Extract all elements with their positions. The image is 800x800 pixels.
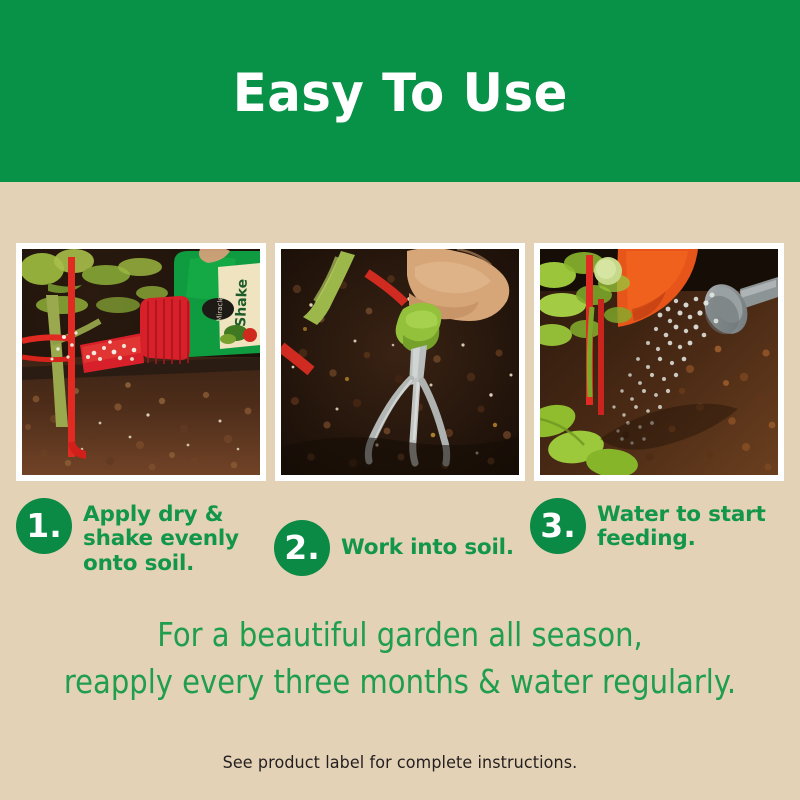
photo-water-to-start	[540, 249, 778, 475]
page-title: Easy To Use	[232, 67, 567, 120]
step-number-badge-2: 2.	[274, 520, 330, 576]
tagline-line-1: For a beautiful garden all season,	[48, 612, 752, 659]
photo-frame-1: Miracle Shake	[16, 243, 266, 481]
tagline: For a beautiful garden all season, reapp…	[48, 612, 752, 706]
step-item-1: 1. Apply dry & shake evenly onto soil.	[16, 498, 274, 598]
footer-disclaimer: See product label for complete instructi…	[24, 753, 776, 773]
svg-text:Shake: Shake	[233, 279, 251, 327]
step-label-3: Water to start feeding.	[597, 503, 766, 552]
photo-strip: Miracle Shake	[16, 243, 784, 481]
easy-to-use-infographic: Easy To Use	[0, 0, 800, 800]
step-number-badge-1: 1.	[16, 498, 72, 554]
steps-list: 1. Apply dry & shake evenly onto soil. 2…	[16, 498, 784, 598]
step-number-badge-3: 3.	[530, 498, 586, 554]
step-item-3: 3. Water to start feeding.	[530, 498, 784, 598]
step-label-1: Apply dry & shake evenly onto soil.	[83, 503, 239, 576]
photo-frame-2	[275, 243, 525, 481]
photo-apply-granules: Miracle Shake	[22, 249, 260, 475]
step-label-2: Work into soil.	[341, 536, 514, 560]
photo-work-into-soil	[281, 249, 519, 475]
svg-text:Miracle: Miracle	[216, 296, 225, 322]
tagline-line-2: reapply every three months & water regul…	[48, 659, 752, 706]
step-item-2: 2. Work into soil.	[274, 498, 530, 598]
photo-frame-3	[534, 243, 784, 481]
header-band: Easy To Use	[0, 0, 800, 182]
